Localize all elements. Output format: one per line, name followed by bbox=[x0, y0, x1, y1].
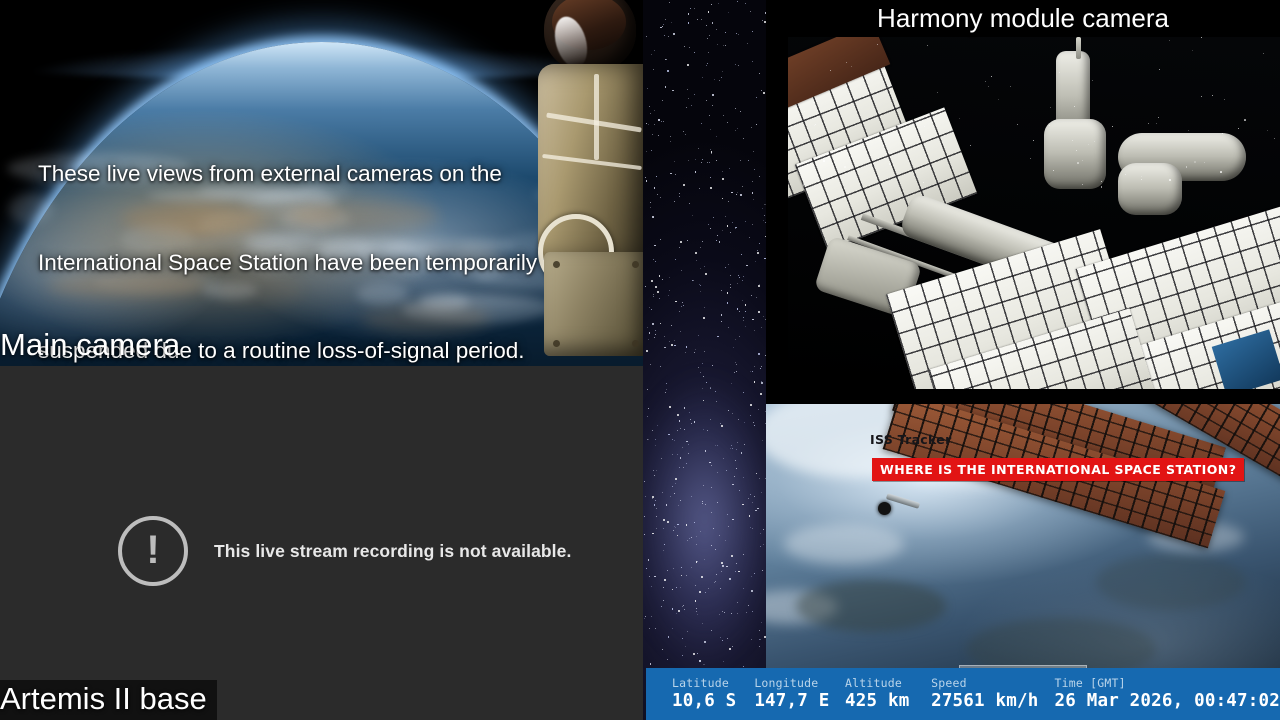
panel-artemis-ii-base[interactable]: ! This live stream recording is not avai… bbox=[0, 366, 643, 720]
panel-starfield bbox=[643, 0, 766, 720]
telemetry-value: 10,6 S bbox=[672, 690, 754, 712]
label-harmony-module-camera: Harmony module camera bbox=[766, 0, 1280, 36]
panel-harmony-module-camera[interactable] bbox=[766, 0, 1280, 400]
telemetry-item-speed: Speed27561 km/h bbox=[931, 676, 1054, 712]
telemetry-label: Altitude bbox=[845, 676, 931, 690]
video-wall: These live views from external cameras o… bbox=[0, 0, 1280, 720]
telemetry-bar: Latitude10,6 SLongitude147,7 EAltitude42… bbox=[646, 668, 1280, 720]
telemetry-label: Latitude bbox=[672, 676, 754, 690]
los-line-2: International Space Station have been te… bbox=[38, 248, 603, 278]
alert-exclamation-icon: ! bbox=[118, 516, 188, 586]
stream-unavailable-text: This live stream recording is not availa… bbox=[214, 541, 571, 562]
tracker-banner: WHERE IS THE INTERNATIONAL SPACE STATION… bbox=[872, 458, 1244, 481]
telemetry-label: Time [GMT] bbox=[1055, 676, 1280, 690]
stream-unavailable-notice: ! This live stream recording is not avai… bbox=[118, 516, 571, 586]
alert-icon-glyph: ! bbox=[146, 530, 159, 570]
panel-main-camera[interactable]: These live views from external cameras o… bbox=[0, 0, 643, 366]
telemetry-item-longitude: Longitude147,7 E bbox=[754, 676, 845, 712]
harmony-video-image bbox=[788, 37, 1280, 389]
telemetry-value: 425 km bbox=[845, 690, 931, 712]
tracker-title: ISS Tracker bbox=[870, 432, 952, 447]
telemetry-item-latitude: Latitude10,6 S bbox=[672, 676, 754, 712]
telemetry-value: 26 Mar 2026, 00:47:02 bbox=[1055, 690, 1280, 712]
telemetry-value: 27561 km/h bbox=[931, 690, 1054, 712]
label-artemis-ii-base: Artemis II base bbox=[0, 680, 217, 720]
tracker-iss-marker bbox=[878, 502, 891, 515]
telemetry-item-altitude: Altitude425 km bbox=[845, 676, 931, 712]
telemetry-value: 147,7 E bbox=[754, 690, 845, 712]
telemetry-item-time-gmt: Time [GMT]26 Mar 2026, 00:47:02 bbox=[1055, 676, 1280, 712]
telemetry-label: Longitude bbox=[754, 676, 845, 690]
label-main-camera: Main camera bbox=[0, 325, 186, 368]
telemetry-label: Speed bbox=[931, 676, 1054, 690]
los-line-1: These live views from external cameras o… bbox=[38, 159, 603, 189]
